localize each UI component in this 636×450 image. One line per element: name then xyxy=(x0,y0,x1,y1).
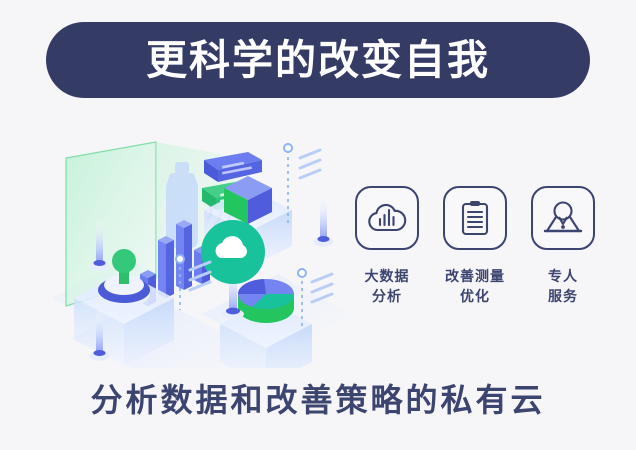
header-banner: 更科学的改变自我 xyxy=(46,22,590,98)
feature-item-service[interactable]: 专人 服务 xyxy=(526,186,600,307)
page-title: 更科学的改变自我 xyxy=(146,40,490,81)
feature-label-line2: 分析 xyxy=(365,286,410,306)
feature-item-big-data[interactable]: 大数据 分析 xyxy=(350,186,424,307)
feature-label-service: 专人 服务 xyxy=(548,266,578,307)
feature-label-big-data: 大数据 分析 xyxy=(365,266,410,307)
feature-label-line2: 优化 xyxy=(445,286,505,306)
feature-label-line2: 服务 xyxy=(548,286,578,306)
pie-chart xyxy=(238,279,294,323)
footer-tagline: 分析数据和改善策略的私有云 xyxy=(0,384,636,416)
cloud-bars-icon xyxy=(355,186,419,250)
pin-marker-c xyxy=(314,196,334,247)
poster-stage: 更科学的改变自我 xyxy=(0,0,636,450)
illustration-scene xyxy=(52,128,352,368)
feature-label-line1: 专人 xyxy=(548,266,578,286)
feature-label-measurement: 改善测量 优化 xyxy=(445,266,505,307)
feature-label-line1: 大数据 xyxy=(365,266,410,286)
feature-item-measurement[interactable]: 改善测量 优化 xyxy=(438,186,512,307)
feature-list: 大数据 分析 改善测量 优化 xyxy=(350,186,600,331)
person-service-icon xyxy=(531,186,595,250)
clipboard-icon xyxy=(443,186,507,250)
feature-label-line1: 改善测量 xyxy=(445,266,505,286)
